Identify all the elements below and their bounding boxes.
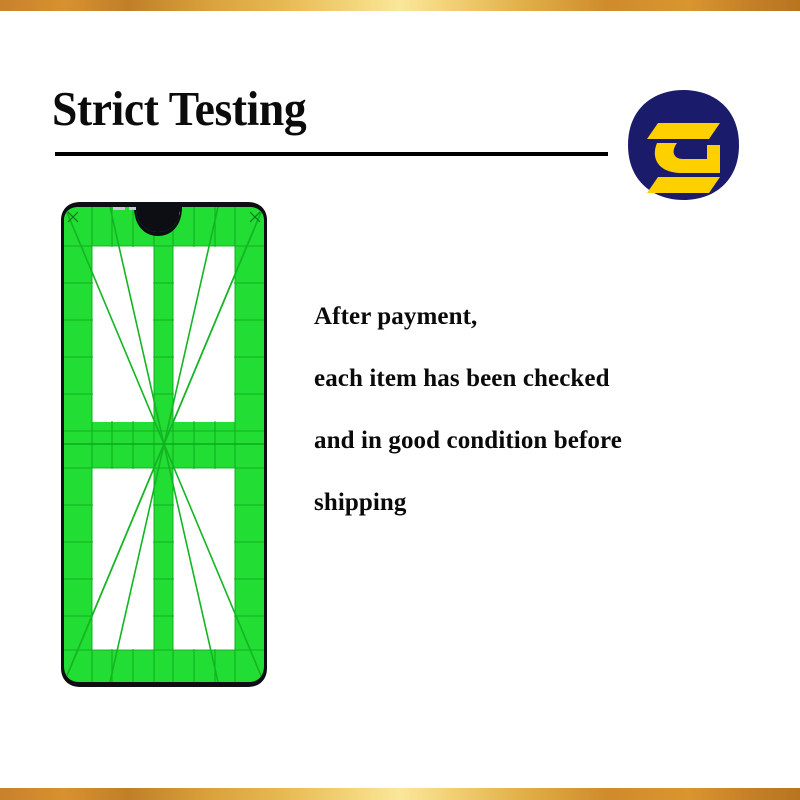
gold-gradient-bar-top [0, 0, 800, 11]
body-line: After payment, [314, 286, 744, 348]
strict-testing-infographic: { "page": { "title": "Strict Testing", "… [0, 0, 800, 800]
gold-gradient-bar-bottom [0, 788, 800, 800]
company-s-logo [627, 89, 740, 201]
body-line: each item has been checked [314, 348, 744, 410]
body-line: shipping [314, 472, 744, 534]
body-copy: After payment, each item has been checke… [314, 286, 744, 534]
phone-screen-test-pattern [50, 198, 278, 698]
body-line: and in good condition before [314, 410, 744, 472]
logo-s-bottom-stroke [647, 177, 720, 193]
page-title: Strict Testing [52, 84, 306, 133]
title-underline-rule [55, 152, 608, 156]
logo-s-top-stroke [647, 123, 720, 139]
